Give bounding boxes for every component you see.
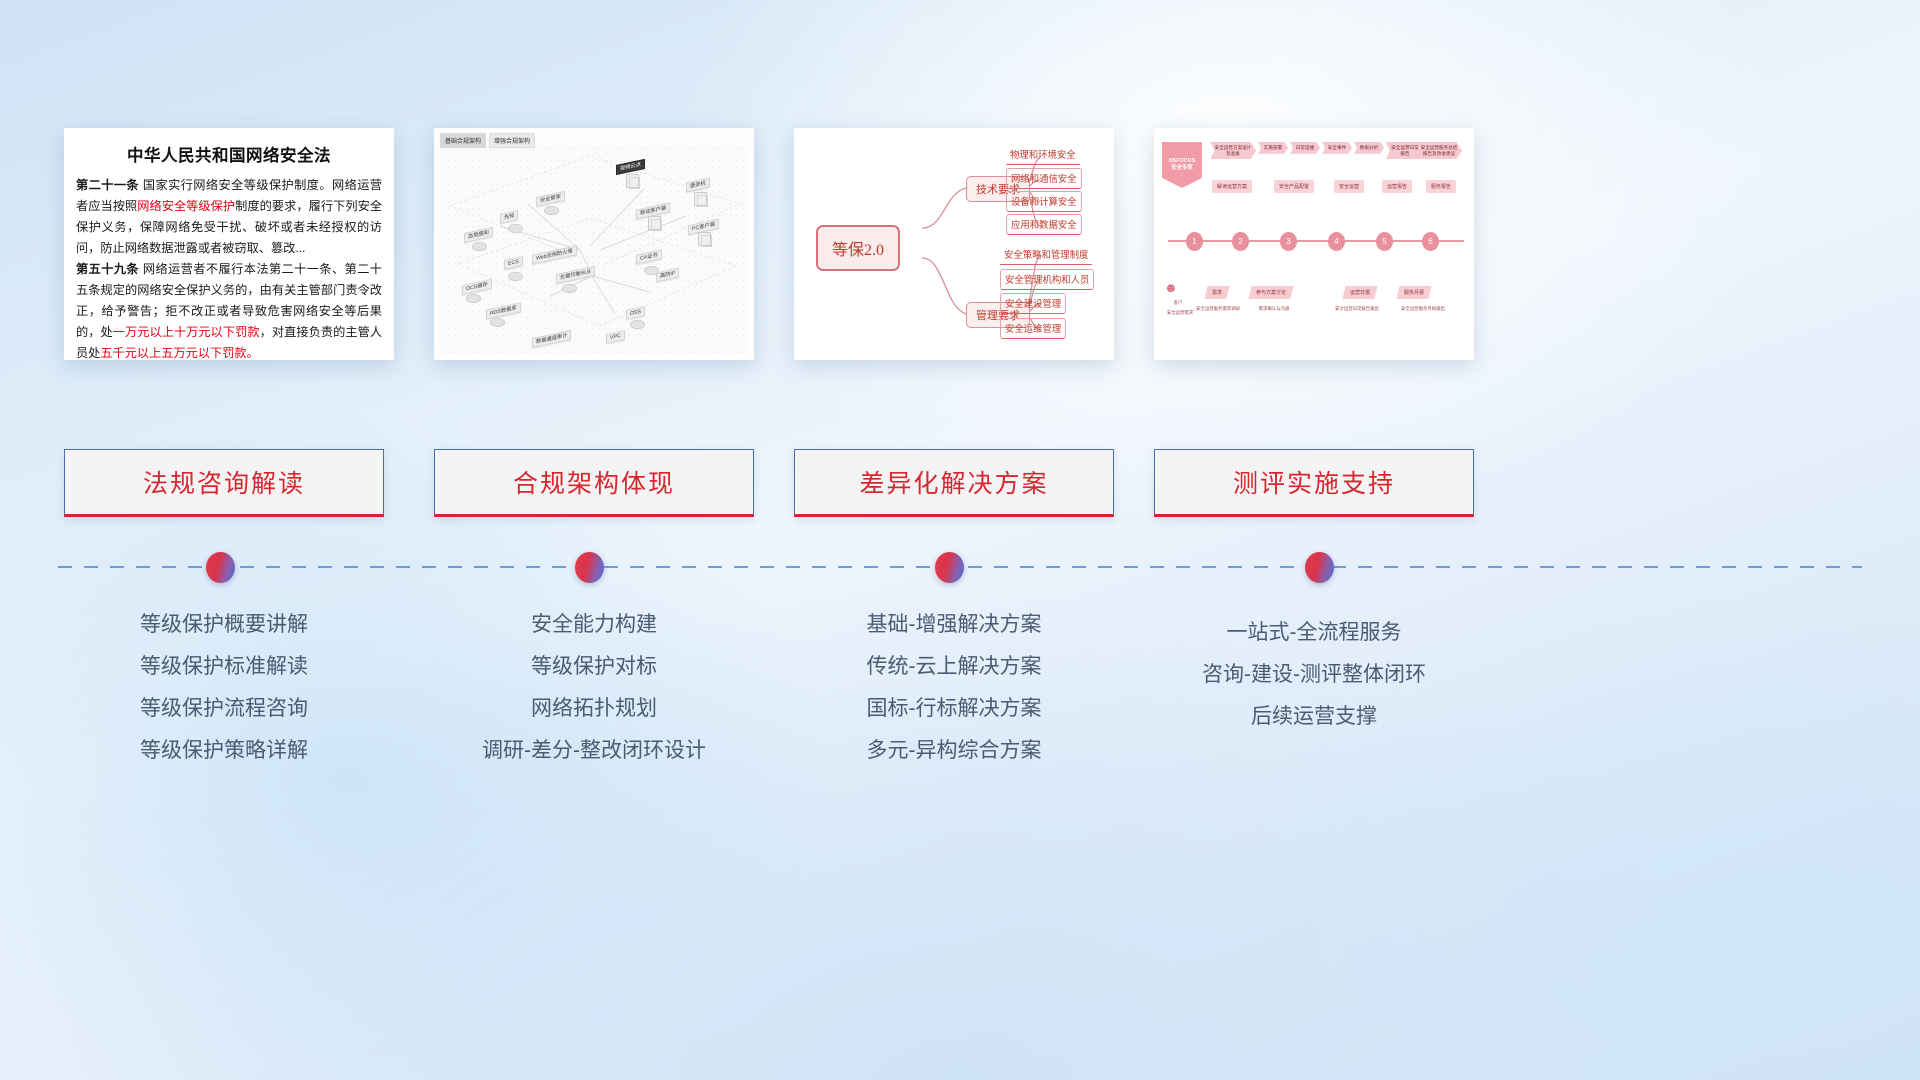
section-header-label: 法规咨询解读 [143,464,305,500]
mindmap-leaf-physical-env: 物理和环境安全 [1006,145,1080,165]
action-requirement: 需求 [1204,286,1229,299]
section-header-differentiated-solution[interactable]: 差异化解决方案 [794,449,1114,517]
nsfocus-brand-sub: 安全专家 [1162,165,1202,172]
action-requirement-caption: 安全运营服务需求调研 [1190,306,1246,312]
section-items-regulation-consulting: 等级保护概要讲解 等级保护标准解读 等级保护流程咨询 等级保护策略详解 [59,604,389,772]
card-mindmap: 等保2.0 技术要求 管理要求 物理和环境安全 网络和通信安全 设备和计算安全 … [794,128,1114,360]
database-icon [562,284,577,293]
chevron-stage-7: 安全运营服务总结报告及改进建议 [1416,142,1462,159]
chevron-stage-1: 安全运营方案设计及准备 [1210,142,1256,159]
list-item: 等级保护策略详解 [59,730,389,772]
pill-ops-report: 运营报告 [1382,180,1412,193]
list-item: 网络拓扑规划 [429,688,759,730]
list-item: 安全能力构建 [429,604,759,646]
section-header-compliance-architecture[interactable]: 合规架构体现 [434,449,754,517]
architecture-tabs: 基础合规架构 增强合规架构 [440,133,535,148]
list-item: 等级保护标准解读 [59,646,389,688]
tab-basic-framework[interactable]: 基础合规架构 [440,133,486,148]
mindmap-leaf-policy-system: 安全策略和管理制度 [1000,245,1092,265]
section-items-evaluation-support: 一站式-全流程服务 咨询-建设-测评整体闭环 后续运营支撑 [1149,612,1479,738]
timeline-dot-2 [575,552,604,583]
timeline-dot-3 [935,552,964,583]
mindmap-canvas: 等保2.0 技术要求 管理要求 物理和环境安全 网络和通信安全 设备和计算安全 … [794,128,1114,360]
section-header-label: 差异化解决方案 [859,464,1048,500]
article-21-highlight: 网络安全等级保护 [137,199,235,213]
pill-service-report: 服务报告 [1426,180,1456,193]
article-59-highlight-a: 一万元以上十万元以下罚款 [113,325,260,339]
database-icon [472,242,487,251]
list-item: 国标-行标解决方案 [789,688,1119,730]
list-item: 咨询-建设-测评整体闭环 [1149,654,1479,696]
pill-product-config: 安全产品配置 [1274,180,1314,193]
mindmap-leaf-org-personnel: 安全管理机构和人员 [1000,269,1094,290]
device-icon [648,216,661,230]
card-architecture-diagram: 基础合规架构 增强合规架构 视频云点 堡垒 [434,128,754,360]
action-discussion-caption: 需求确认与沟通 [1246,306,1302,312]
list-item: 一站式-全流程服务 [1149,612,1479,654]
mindmap-leaf-device-compute: 设备和计算安全 [1006,191,1082,212]
database-icon [508,224,523,233]
mindmap-leaf-ops-mgmt: 安全运维管理 [1000,318,1066,339]
timeline-axis [1168,240,1464,242]
nsfocus-logo: NSFOCUS 安全专家 [1162,142,1202,188]
law-article-21: 第二十一条 国家实行网络安全等级保护制度。网络运营者应当按照网络安全等级保护制度… [76,175,382,259]
section-header-label: 合规架构体现 [513,464,675,500]
chevron-stage-2: 实施部署 [1258,142,1288,154]
chevron-stage-3: 日常运维 [1290,142,1320,154]
output-daily-report-label: 运营日报 [1350,289,1370,296]
pill-security-ops: 安全运营 [1334,180,1364,193]
list-item: 多元-异构综合方案 [789,730,1119,772]
output-monthly-caption: 安全运营服务月报输出 [1390,306,1456,312]
list-item: 等级保护概要讲解 [59,604,389,646]
step-marker-6: 6 [1422,232,1439,251]
output-monthly-report: 服务月报 [1396,286,1431,299]
mindmap-leaf-app-data: 应用和数据安全 [1006,214,1082,235]
database-icon [630,320,645,329]
server-icon [694,192,707,206]
step-marker-3: 3 [1280,232,1297,251]
database-icon [644,266,659,275]
pill-solution-design: 解读运营方案 [1212,180,1252,193]
database-icon [508,272,523,281]
article-21-label: 第二十一条 [76,178,139,192]
customer-person-icon: ☻ [1164,280,1178,295]
architecture-connectors [440,146,748,354]
mindmap-leaf-network-comm: 网络和通信安全 [1006,168,1082,189]
chevron-stage-4: 安全事件 [1322,142,1352,154]
section-header-label: 测评实施支持 [1233,464,1395,500]
action-discussion: 参与方案讨论 [1248,286,1293,299]
nsfocus-canvas: NSFOCUS 安全专家 安全运营方案设计及准备 实施部署 日常运维 安全事件 … [1154,128,1474,360]
mindmap-leaf-construction-mgmt: 安全建设管理 [1000,293,1066,314]
law-title: 中华人民共和国网络安全法 [76,142,382,166]
slide-canvas: 中华人民共和国网络安全法 第二十一条 国家实行网络安全等级保护制度。网络运营者应… [0,0,1920,1080]
step-marker-1: 1 [1186,232,1203,251]
step-marker-5: 5 [1376,232,1393,251]
chevron-stage-5: 数据分析 [1354,142,1384,154]
article-59-label: 第五十九条 [76,262,139,276]
section-items-differentiated-solution: 基础-增强解决方案 传统-云上解决方案 国标-行标解决方案 多元-异构综合方案 [789,604,1119,772]
list-item: 等级保护对标 [429,646,759,688]
section-items-compliance-architecture: 安全能力构建 等级保护对标 网络拓扑规划 调研-差分-整改闭环设计 [429,604,759,772]
output-daily-report: 运营日报 [1342,286,1377,299]
card-law-text: 中华人民共和国网络安全法 第二十一条 国家实行网络安全等级保护制度。网络运营者应… [64,128,394,360]
card-service-timeline: NSFOCUS 安全专家 安全运营方案设计及准备 实施部署 日常运维 安全事件 … [1154,128,1474,360]
law-body: 中华人民共和国网络安全法 第二十一条 国家实行网络安全等级保护制度。网络运营者应… [64,128,394,360]
list-item: 后续运营支撑 [1149,696,1479,738]
database-icon [466,294,481,303]
article-59-highlight-b: 五千元以上五万元以下罚款。 [100,346,258,360]
law-article-59: 第五十九条 网络运营者不履行本法第二十一条、第二十五条规定的网络安全保护义务的，… [76,259,382,360]
action-requirement-label: 需求 [1212,289,1222,296]
list-item: 传统-云上解决方案 [789,646,1119,688]
database-icon [544,206,559,215]
server-icon [626,174,639,188]
output-daily-caption: 安全运营日常报告输出 [1326,306,1388,312]
architecture-drawing: 视频云点 堡垒机 安全管家 先知 态势感知 移动客户端 PC客户端 Web应用防… [440,146,748,354]
output-monthly-report-label: 服务月报 [1404,289,1424,296]
step-marker-4: 4 [1328,232,1345,251]
section-header-evaluation-support[interactable]: 测评实施支持 [1154,449,1474,517]
desktop-icon [698,232,711,246]
nsfocus-brand: NSFOCUS [1162,158,1202,165]
list-item: 调研-差分-整改闭环设计 [429,730,759,772]
timeline-dot-1 [206,552,235,583]
tab-enhanced-framework[interactable]: 增强合规架构 [489,133,535,148]
list-item: 基础-增强解决方案 [789,604,1119,646]
step-marker-2: 2 [1232,232,1249,251]
list-item: 等级保护流程咨询 [59,688,389,730]
section-header-regulation-consulting[interactable]: 法规咨询解读 [64,449,384,517]
architecture-canvas: 基础合规架构 增强合规架构 视频云点 堡垒 [434,128,754,360]
database-icon [490,318,505,327]
mindmap-root-node: 等保2.0 [816,225,900,271]
timeline-dot-4 [1305,552,1334,583]
action-discussion-label: 参与方案讨论 [1256,289,1286,296]
